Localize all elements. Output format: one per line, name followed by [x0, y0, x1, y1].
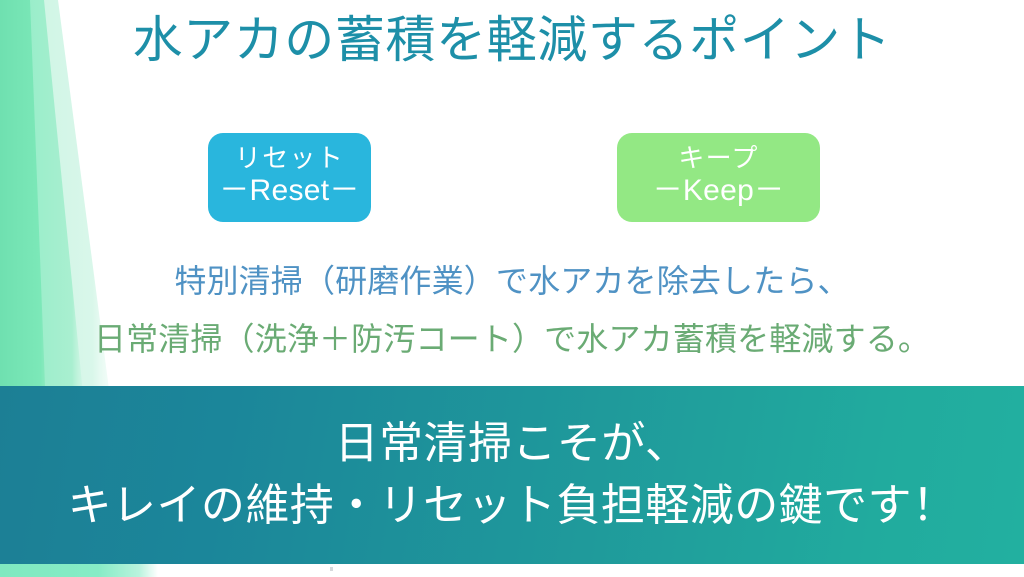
bottom-strip-mark	[330, 567, 333, 571]
banner-line-2: キレイの維持・リセット負担軽減の鍵です！	[68, 475, 957, 537]
conclusion-banner: 日常清掃こそが、 キレイの維持・リセット負担軽減の鍵です！	[0, 386, 1024, 564]
bottom-strip-green-block	[0, 564, 158, 577]
banner-line-1: 日常清掃こそが、	[335, 413, 690, 475]
slide-root: 水アカの蓄積を軽減するポイント リセット －Reset－ キープ －Keep－ …	[0, 0, 1024, 577]
badge-reset-en-label: －Reset－	[219, 173, 359, 208]
badge-reset[interactable]: リセット －Reset－	[208, 133, 371, 222]
badge-keep-jp-label: キープ	[678, 145, 758, 172]
badge-reset-jp-label: リセット	[235, 145, 344, 172]
bottom-strip	[0, 564, 1024, 577]
page-title-container: 水アカの蓄積を軽減するポイント	[0, 12, 1024, 68]
badge-row: リセット －Reset－ キープ －Keep－	[0, 133, 1024, 225]
badge-keep[interactable]: キープ －Keep－	[617, 133, 820, 222]
page-title: 水アカの蓄積を軽減するポイント	[133, 12, 892, 68]
body-text-block: 特別清掃（研磨作業）で水アカを除去したら、 日常清掃（洗浄＋防汚コート）で水アカ…	[0, 252, 1024, 368]
body-line-reset-step: 特別清掃（研磨作業）で水アカを除去したら、	[0, 252, 1024, 310]
body-line-keep-step: 日常清掃（洗浄＋防汚コート）で水アカ蓄積を軽減する。	[0, 310, 1024, 368]
badge-keep-en-label: －Keep－	[653, 173, 785, 208]
